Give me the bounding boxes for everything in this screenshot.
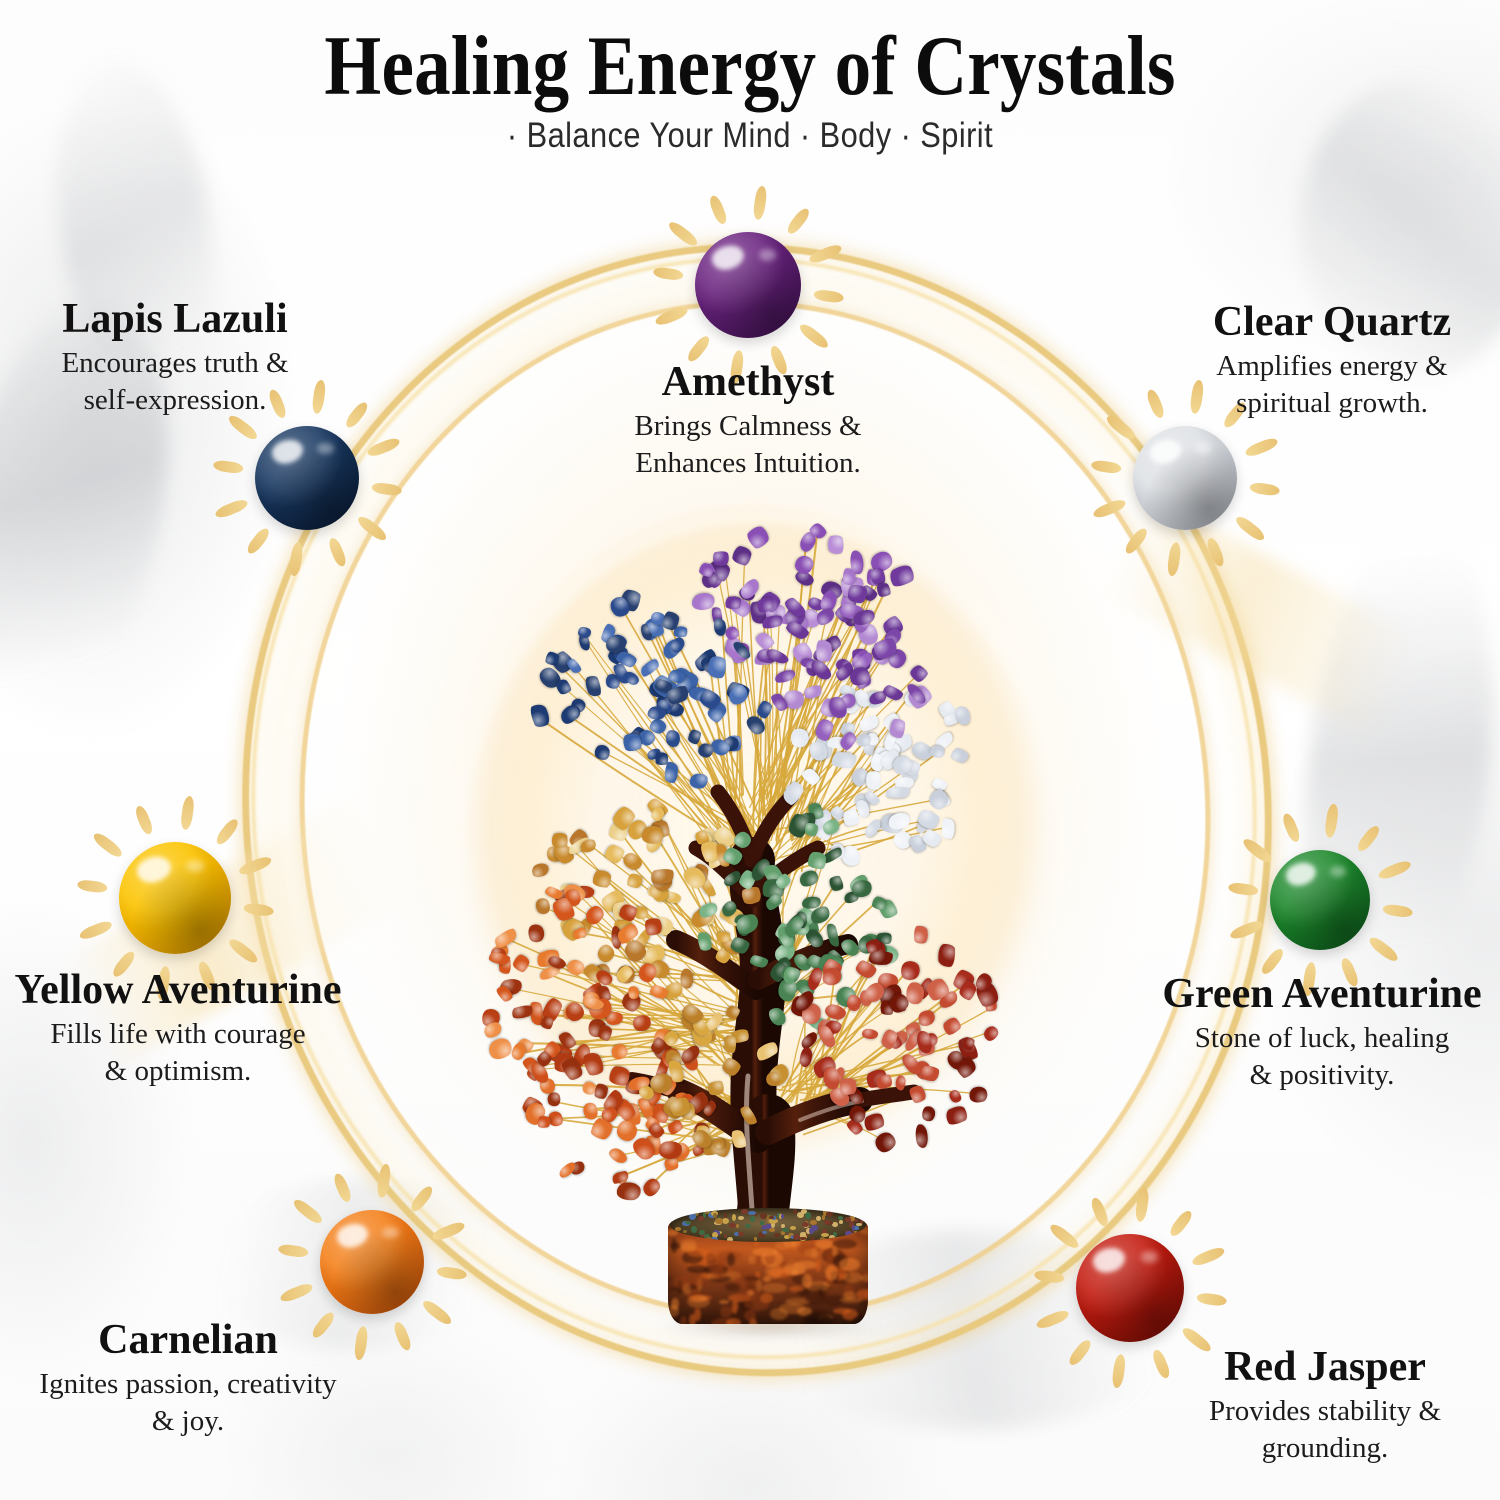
base-gem-chip bbox=[748, 1211, 756, 1214]
base-texture-fleck bbox=[691, 1280, 705, 1285]
sun-ray bbox=[1382, 903, 1413, 918]
base-texture-fleck bbox=[726, 1318, 741, 1324]
base-gem-chip bbox=[769, 1228, 775, 1232]
sphere-shading bbox=[119, 842, 231, 954]
sun-ray bbox=[237, 854, 273, 877]
crystal-label-yellow-aventurine: Yellow AventurineFills life with courage… bbox=[0, 968, 498, 1091]
gem-chip bbox=[594, 744, 609, 760]
base-gem-chip bbox=[826, 1211, 833, 1217]
crystal-label-carnelian: CarnelianIgnites passion, creativity & j… bbox=[0, 1318, 508, 1441]
base-texture-fleck bbox=[725, 1283, 740, 1291]
base-gem-chip bbox=[809, 1228, 814, 1234]
crystal-label-amethyst: AmethystBrings Calmness & Enhances Intui… bbox=[428, 360, 1068, 483]
sun-ray bbox=[1034, 1308, 1070, 1331]
sun-ray bbox=[291, 1197, 325, 1227]
poster-header: Healing Energy of Crystals · Balance You… bbox=[0, 22, 1500, 156]
base-gem-chip bbox=[704, 1210, 710, 1214]
sphere-secondary-highlight bbox=[759, 249, 776, 261]
base-gem-chip bbox=[738, 1232, 744, 1237]
base-gem-chip bbox=[774, 1233, 780, 1237]
sun-ray bbox=[807, 242, 843, 265]
base-texture-fleck bbox=[775, 1241, 789, 1250]
poster-canvas: Healing Energy of Crystals · Balance You… bbox=[0, 0, 1500, 1500]
base-gem-chip bbox=[689, 1213, 696, 1220]
base-gem-chip bbox=[741, 1209, 749, 1214]
sun-ray bbox=[1243, 436, 1279, 459]
base-gem-chip bbox=[838, 1216, 843, 1220]
crystal-sphere-green-aventurine[interactable] bbox=[1270, 850, 1370, 950]
sphere-shading bbox=[255, 426, 359, 530]
sun-ray bbox=[243, 902, 274, 917]
gem-chip bbox=[938, 944, 956, 967]
gem-chip bbox=[594, 1083, 608, 1099]
base-gem-chip bbox=[745, 1224, 751, 1228]
sun-ray bbox=[1323, 803, 1339, 838]
sun-ray bbox=[331, 1172, 352, 1204]
sun-ray bbox=[1249, 482, 1280, 497]
crystal-label-clear-quartz: Clear QuartzAmplifies energy & spiritual… bbox=[1012, 300, 1500, 423]
base-gem-chip bbox=[820, 1237, 825, 1240]
sun-ray bbox=[1090, 459, 1121, 474]
base-texture-fleck bbox=[668, 1287, 681, 1291]
gem-chip bbox=[617, 1181, 641, 1200]
crystal-description-amethyst: Brings Calmness & Enhances Intuition. bbox=[428, 408, 1068, 483]
sun-ray bbox=[797, 321, 831, 351]
crystal-sphere-amethyst[interactable] bbox=[695, 232, 801, 338]
base-texture-fleck bbox=[853, 1315, 868, 1324]
sphere-shading bbox=[695, 232, 801, 338]
base-gem-chip bbox=[845, 1231, 852, 1236]
sun-ray bbox=[365, 436, 401, 459]
base-texture-fleck bbox=[744, 1276, 758, 1281]
base-gem-chip bbox=[782, 1228, 789, 1232]
sun-ray bbox=[376, 1163, 392, 1198]
crystal-name-clear-quartz: Clear Quartz bbox=[1012, 300, 1500, 345]
base-gem-chip bbox=[762, 1225, 766, 1230]
base-texture-fleck bbox=[689, 1314, 696, 1324]
sun-ray bbox=[1280, 812, 1301, 844]
crystal-description-carnelian: Ignites passion, creativity & joy. bbox=[0, 1366, 508, 1441]
base-gem-chip bbox=[822, 1215, 825, 1220]
sun-ray bbox=[436, 1266, 467, 1281]
sun-ray bbox=[1227, 882, 1258, 897]
base-gem-chip bbox=[839, 1220, 844, 1224]
base-gem-chip bbox=[805, 1212, 811, 1219]
sun-ray bbox=[1190, 1245, 1226, 1268]
base-texture-fleck bbox=[863, 1270, 868, 1275]
base-texture-fleck bbox=[680, 1316, 686, 1324]
sun-ray bbox=[1166, 542, 1182, 577]
base-texture-fleck bbox=[671, 1298, 679, 1310]
sun-ray bbox=[226, 936, 260, 966]
sun-ray bbox=[90, 830, 124, 860]
sun-ray bbox=[666, 219, 700, 249]
crystal-name-amethyst: Amethyst bbox=[428, 360, 1068, 405]
gem-chip bbox=[913, 926, 928, 945]
base-gem-chip bbox=[844, 1236, 849, 1242]
sun-ray bbox=[707, 194, 728, 226]
sun-ray bbox=[213, 817, 240, 847]
base-gem-chip bbox=[750, 1216, 755, 1222]
crystal-description-red-jasper: Provides stability & grounding. bbox=[1005, 1393, 1500, 1468]
sun-ray bbox=[1228, 919, 1264, 942]
crystal-gemstone-tree bbox=[500, 520, 1010, 1360]
sphere-shading bbox=[1133, 426, 1237, 530]
base-gem-chip bbox=[715, 1218, 723, 1223]
base-gem-chip bbox=[706, 1237, 712, 1241]
sun-ray bbox=[1196, 1292, 1227, 1307]
sphere-shading bbox=[1076, 1234, 1184, 1342]
base-gem-chip bbox=[810, 1237, 816, 1242]
crystal-description-green-aventurine: Stone of luck, healing & positivity. bbox=[1002, 1020, 1500, 1095]
base-texture-fleck bbox=[680, 1239, 697, 1251]
tree-base bbox=[668, 1208, 868, 1330]
sun-ray bbox=[653, 305, 689, 328]
sun-ray bbox=[430, 1220, 466, 1243]
base-gem-chip bbox=[677, 1237, 682, 1242]
base-gem-chip bbox=[799, 1237, 807, 1240]
base-gem-chip bbox=[859, 1236, 866, 1240]
sun-ray bbox=[1047, 1221, 1081, 1251]
base-texture-fleck bbox=[818, 1289, 823, 1293]
crystal-sphere-yellow-aventurine[interactable] bbox=[119, 842, 231, 954]
base-gem-chip bbox=[800, 1232, 806, 1237]
base-texture-fleck bbox=[683, 1283, 691, 1295]
page-title: Healing Energy of Crystals bbox=[105, 22, 1395, 110]
sun-ray bbox=[408, 1184, 435, 1214]
base-texture-fleck bbox=[760, 1293, 772, 1303]
sphere-shading bbox=[320, 1210, 424, 1314]
base-texture-fleck bbox=[701, 1316, 717, 1321]
base-texture-fleck bbox=[813, 1316, 833, 1324]
crystal-sphere-carnelian[interactable] bbox=[320, 1210, 424, 1314]
crystal-label-lapis-lazuli: Lapis LazuliEncourages truth & self-expr… bbox=[0, 297, 495, 420]
sun-ray bbox=[1033, 1269, 1064, 1284]
base-gem-chip bbox=[754, 1237, 757, 1241]
base-texture-fleck bbox=[815, 1239, 833, 1248]
gem-chip bbox=[805, 823, 818, 836]
base-texture-fleck bbox=[709, 1258, 722, 1273]
tree-base-top-chips bbox=[670, 1208, 866, 1242]
crystal-label-green-aventurine: Green AventurineStone of luck, healing &… bbox=[1002, 972, 1500, 1095]
sun-ray bbox=[1134, 1187, 1150, 1222]
crystal-sphere-clear-quartz[interactable] bbox=[1133, 426, 1237, 530]
base-gem-chip bbox=[797, 1212, 804, 1218]
base-gem-chip bbox=[736, 1224, 739, 1228]
sun-ray bbox=[1122, 526, 1149, 556]
crystal-label-red-jasper: Red JasperProvides stability & grounding… bbox=[1005, 1345, 1500, 1468]
sphere-secondary-highlight bbox=[1195, 443, 1212, 454]
sun-ray bbox=[179, 795, 195, 830]
sun-ray bbox=[1366, 934, 1400, 964]
sphere-secondary-highlight bbox=[382, 1227, 399, 1238]
sun-ray bbox=[133, 804, 154, 836]
base-gem-chip bbox=[781, 1214, 784, 1219]
sun-ray bbox=[784, 206, 811, 236]
sun-ray bbox=[1233, 514, 1267, 544]
crystal-name-carnelian: Carnelian bbox=[0, 1318, 508, 1363]
base-texture-fleck bbox=[839, 1258, 860, 1271]
gem-chip bbox=[654, 751, 669, 766]
base-gem-chip bbox=[683, 1230, 687, 1233]
base-texture-fleck bbox=[779, 1303, 805, 1314]
gem-chip bbox=[808, 852, 826, 869]
base-gem-chip bbox=[691, 1226, 697, 1233]
base-gem-chip bbox=[790, 1226, 796, 1230]
base-gem-chip bbox=[729, 1223, 737, 1228]
sun-ray bbox=[1240, 836, 1274, 866]
base-texture-fleck bbox=[748, 1255, 755, 1264]
sun-ray bbox=[326, 536, 347, 568]
crystal-sphere-lapis-lazuli[interactable] bbox=[255, 426, 359, 530]
base-gem-chip bbox=[816, 1216, 821, 1221]
base-texture-fleck bbox=[856, 1289, 868, 1300]
sun-ray bbox=[212, 459, 243, 474]
base-texture-fleck bbox=[789, 1286, 804, 1292]
sun-ray bbox=[277, 1243, 308, 1258]
sun-ray bbox=[288, 542, 304, 577]
gem-chip bbox=[869, 950, 893, 965]
sun-ray bbox=[1167, 1208, 1194, 1238]
crystal-name-green-aventurine: Green Aventurine bbox=[1002, 972, 1500, 1017]
sphere-shading bbox=[1270, 850, 1370, 950]
base-texture-fleck bbox=[727, 1268, 750, 1272]
base-gem-chip bbox=[845, 1217, 851, 1221]
base-gem-chip bbox=[732, 1214, 736, 1221]
page-subtitle: · Balance Your Mind · Body · Spirit bbox=[90, 116, 1410, 156]
base-gem-chip bbox=[762, 1231, 768, 1234]
base-texture-fleck bbox=[720, 1306, 732, 1318]
sun-ray bbox=[355, 514, 389, 544]
sun-ray bbox=[652, 266, 683, 281]
sun-ray bbox=[77, 919, 113, 942]
sun-ray bbox=[76, 879, 107, 894]
base-gem-chip bbox=[829, 1235, 835, 1240]
base-texture-fleck bbox=[727, 1253, 735, 1267]
base-texture-fleck bbox=[668, 1275, 671, 1284]
sun-ray bbox=[1354, 823, 1381, 853]
sun-ray bbox=[1091, 497, 1127, 520]
base-texture-fleck bbox=[783, 1263, 806, 1275]
gem-chip bbox=[848, 585, 867, 603]
sphere-secondary-highlight bbox=[1330, 866, 1346, 877]
sun-ray bbox=[1089, 1196, 1110, 1228]
sun-ray bbox=[213, 497, 249, 520]
base-gem-chip bbox=[738, 1216, 744, 1220]
crystal-description-clear-quartz: Amplifies energy & spiritual growth. bbox=[1012, 348, 1500, 423]
base-texture-fleck bbox=[802, 1274, 812, 1287]
gem-chip bbox=[707, 656, 726, 679]
gem-chip bbox=[593, 870, 612, 888]
base-texture-fleck bbox=[825, 1265, 838, 1281]
base-texture-fleck bbox=[762, 1283, 787, 1293]
sun-ray bbox=[1376, 859, 1412, 882]
crystal-name-red-jasper: Red Jasper bbox=[1005, 1345, 1500, 1390]
sun-ray bbox=[371, 482, 402, 497]
sphere-secondary-highlight bbox=[317, 443, 334, 454]
gem-chip bbox=[941, 818, 955, 839]
base-gem-chip bbox=[824, 1220, 830, 1224]
crystal-name-yellow-aventurine: Yellow Aventurine bbox=[0, 968, 498, 1013]
base-texture-fleck bbox=[719, 1300, 728, 1304]
crystal-name-lapis-lazuli: Lapis Lazuli bbox=[0, 297, 495, 342]
sun-ray bbox=[1204, 536, 1225, 568]
base-texture-fleck bbox=[687, 1295, 710, 1309]
gem-chip bbox=[664, 762, 678, 783]
crystal-sphere-red-jasper[interactable] bbox=[1076, 1234, 1184, 1342]
base-texture-fleck bbox=[815, 1259, 821, 1272]
sun-ray bbox=[752, 185, 768, 220]
sun-ray bbox=[278, 1281, 314, 1304]
sun-ray bbox=[244, 526, 271, 556]
base-texture-fleck bbox=[843, 1272, 862, 1283]
gem-chip bbox=[723, 1034, 737, 1053]
sun-ray bbox=[813, 289, 844, 304]
crystal-description-yellow-aventurine: Fills life with courage & optimism. bbox=[0, 1016, 498, 1091]
base-gem-chip bbox=[698, 1216, 704, 1221]
base-gem-chip bbox=[722, 1218, 729, 1224]
crystal-description-lapis-lazuli: Encourages truth & self-expression. bbox=[0, 345, 495, 420]
gem-chip bbox=[832, 752, 856, 768]
base-gem-chip bbox=[675, 1227, 682, 1231]
